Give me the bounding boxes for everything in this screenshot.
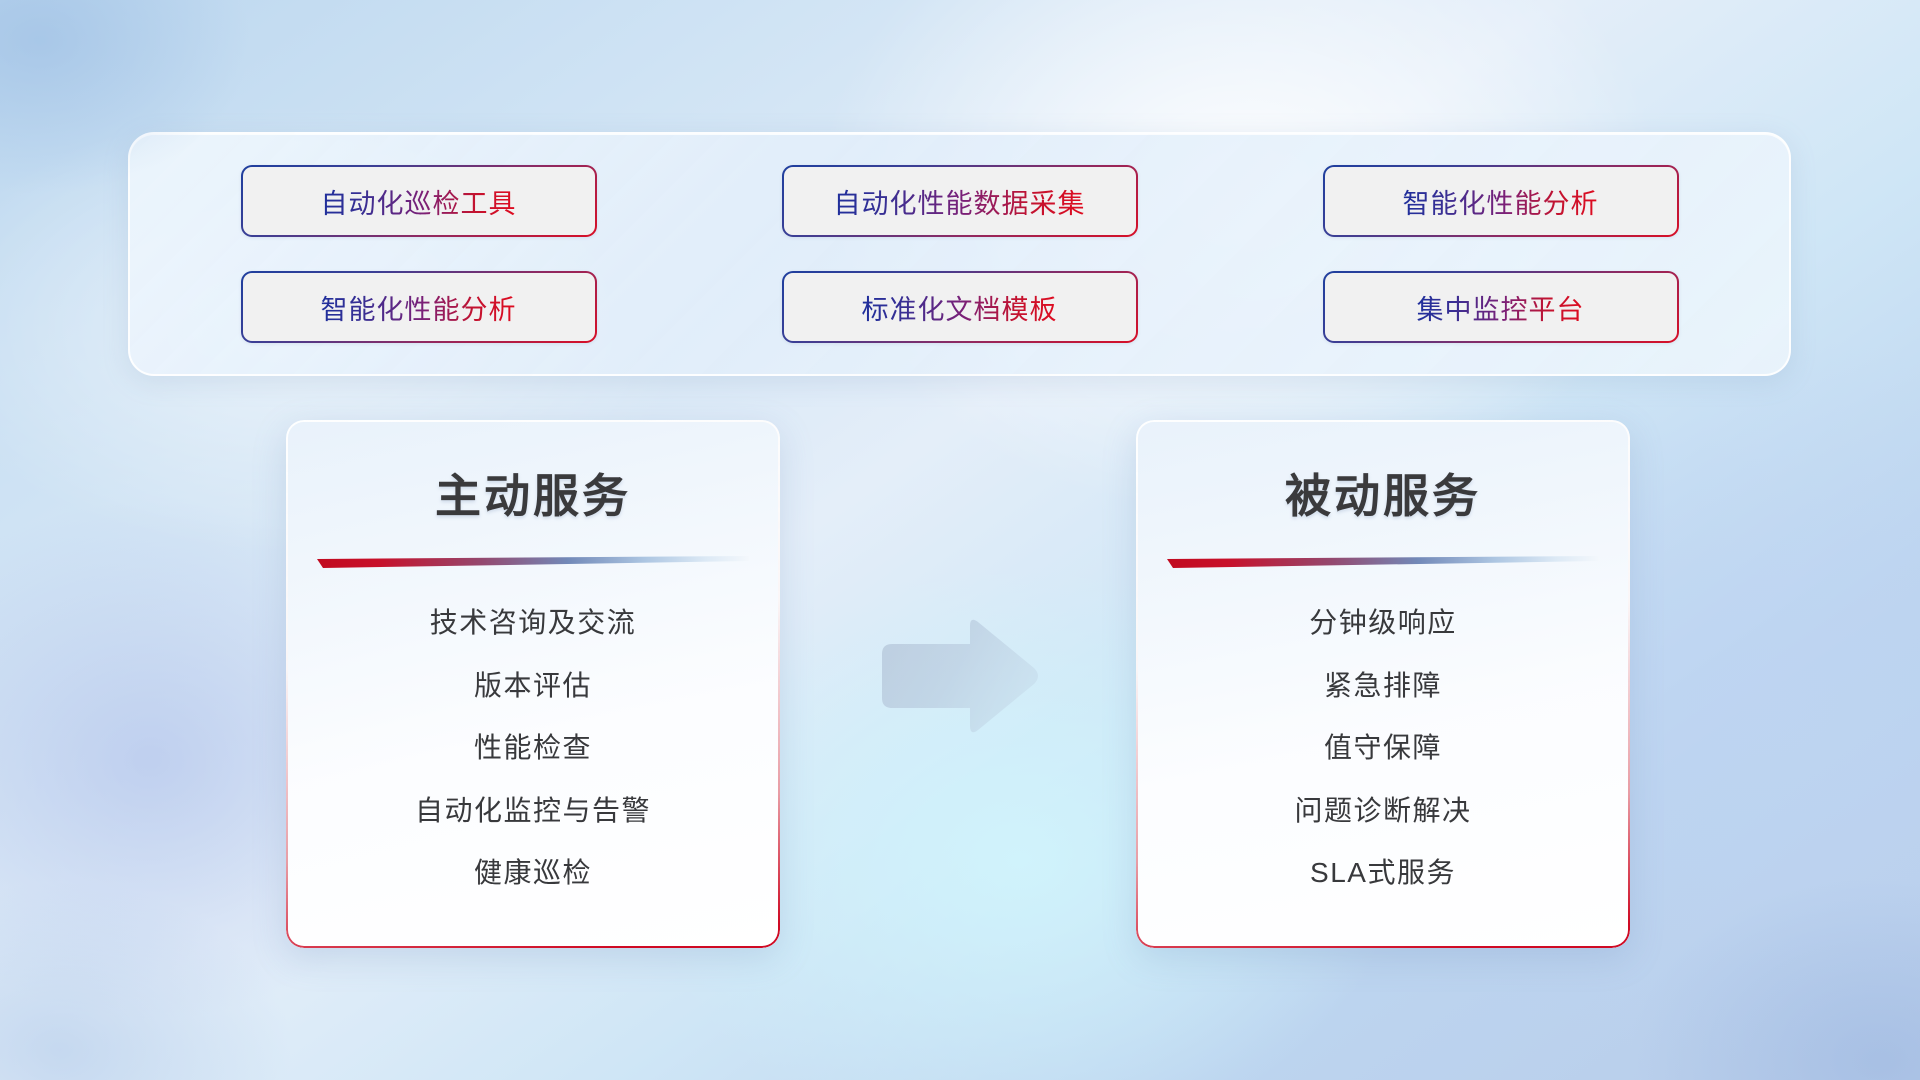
list-item: 值守保障	[1324, 728, 1442, 769]
arrow-right-icon	[878, 616, 1042, 736]
list-item: 紧急排障	[1324, 666, 1442, 707]
list-item: 技术咨询及交流	[430, 603, 637, 644]
card-item-list: 分钟级响应 紧急排障 值守保障 问题诊断解决 SLA式服务	[1136, 603, 1630, 894]
card-title: 主动服务	[286, 460, 780, 526]
capability-tag-label: 智能化性能分析	[321, 288, 517, 327]
list-item: 分钟级响应	[1309, 603, 1457, 644]
title-divider	[1167, 556, 1599, 569]
capability-tag[interactable]: 自动化巡检工具	[241, 165, 597, 237]
capability-tag[interactable]: 自动化性能数据采集	[782, 165, 1138, 237]
capability-tag[interactable]: 集中监控平台	[1323, 271, 1679, 343]
capability-tag[interactable]: 智能化性能分析	[1323, 165, 1679, 237]
capability-tag[interactable]: 智能化性能分析	[241, 271, 597, 343]
capability-tag-label: 集中监控平台	[1417, 288, 1585, 327]
list-item: 性能检查	[474, 728, 592, 769]
card-item-list: 技术咨询及交流 版本评估 性能检查 自动化监控与告警 健康巡检	[286, 603, 780, 894]
capability-tag[interactable]: 标准化文档模板	[782, 271, 1138, 343]
list-item: 问题诊断解决	[1294, 791, 1471, 832]
list-item: SLA式服务	[1310, 853, 1456, 894]
capability-tag-label: 自动化性能数据采集	[834, 182, 1086, 221]
service-card-reactive[interactable]: 被动服务 分钟级响应 紧急排障	[1136, 420, 1630, 948]
card-title: 被动服务	[1136, 460, 1630, 526]
capability-tag-label: 标准化文档模板	[862, 288, 1058, 327]
title-divider	[317, 556, 749, 569]
slide-canvas: 自动化巡检工具 自动化性能数据采集 智能化性能分析 智能化性能分析 标准化文档模…	[0, 0, 1920, 1080]
capability-tag-label: 智能化性能分析	[1403, 182, 1599, 221]
capability-tags-panel: 自动化巡检工具 自动化性能数据采集 智能化性能分析 智能化性能分析 标准化文档模…	[128, 132, 1791, 376]
service-card-proactive[interactable]: 主动服务 技术咨询及交流 版本评估	[286, 420, 780, 948]
list-item: 版本评估	[474, 666, 592, 707]
list-item: 健康巡检	[474, 853, 592, 894]
capability-tag-label: 自动化巡检工具	[321, 182, 517, 221]
list-item: 自动化监控与告警	[415, 791, 651, 832]
